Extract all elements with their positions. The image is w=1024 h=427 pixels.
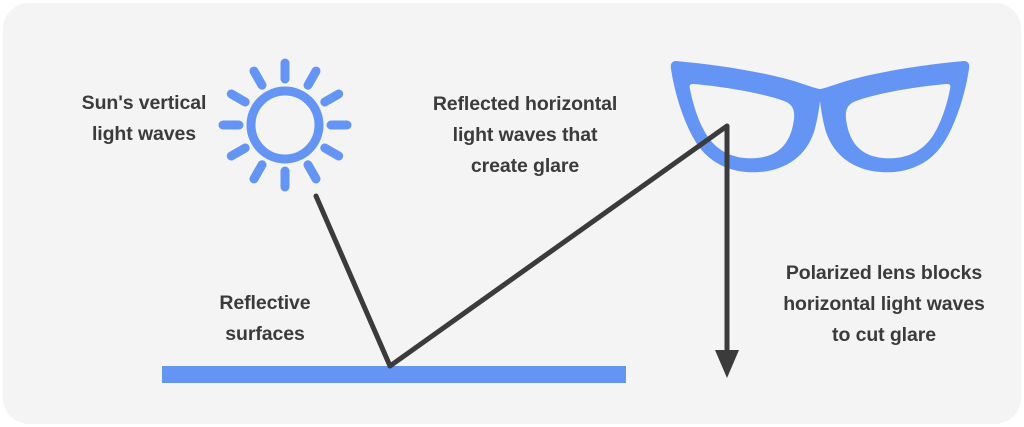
label-polarized-lens-blocks: Polarized lens blocks horizontal light w…: [752, 258, 1016, 351]
eyeglasses-icon: [671, 61, 970, 172]
label-reflective-surfaces: Reflective surfaces: [185, 288, 345, 350]
reflective-surface-bar: [162, 366, 626, 383]
label-sun-vertical-light-waves: Sun's vertical light waves: [44, 88, 244, 150]
label-reflected-horizontal-light-waves: Reflected horizontal light waves that cr…: [400, 89, 650, 182]
polarized-lens-diagram: Sun's vertical light waves Reflected hor…: [0, 0, 1024, 427]
diagram-graphics-layer: [0, 0, 1024, 427]
